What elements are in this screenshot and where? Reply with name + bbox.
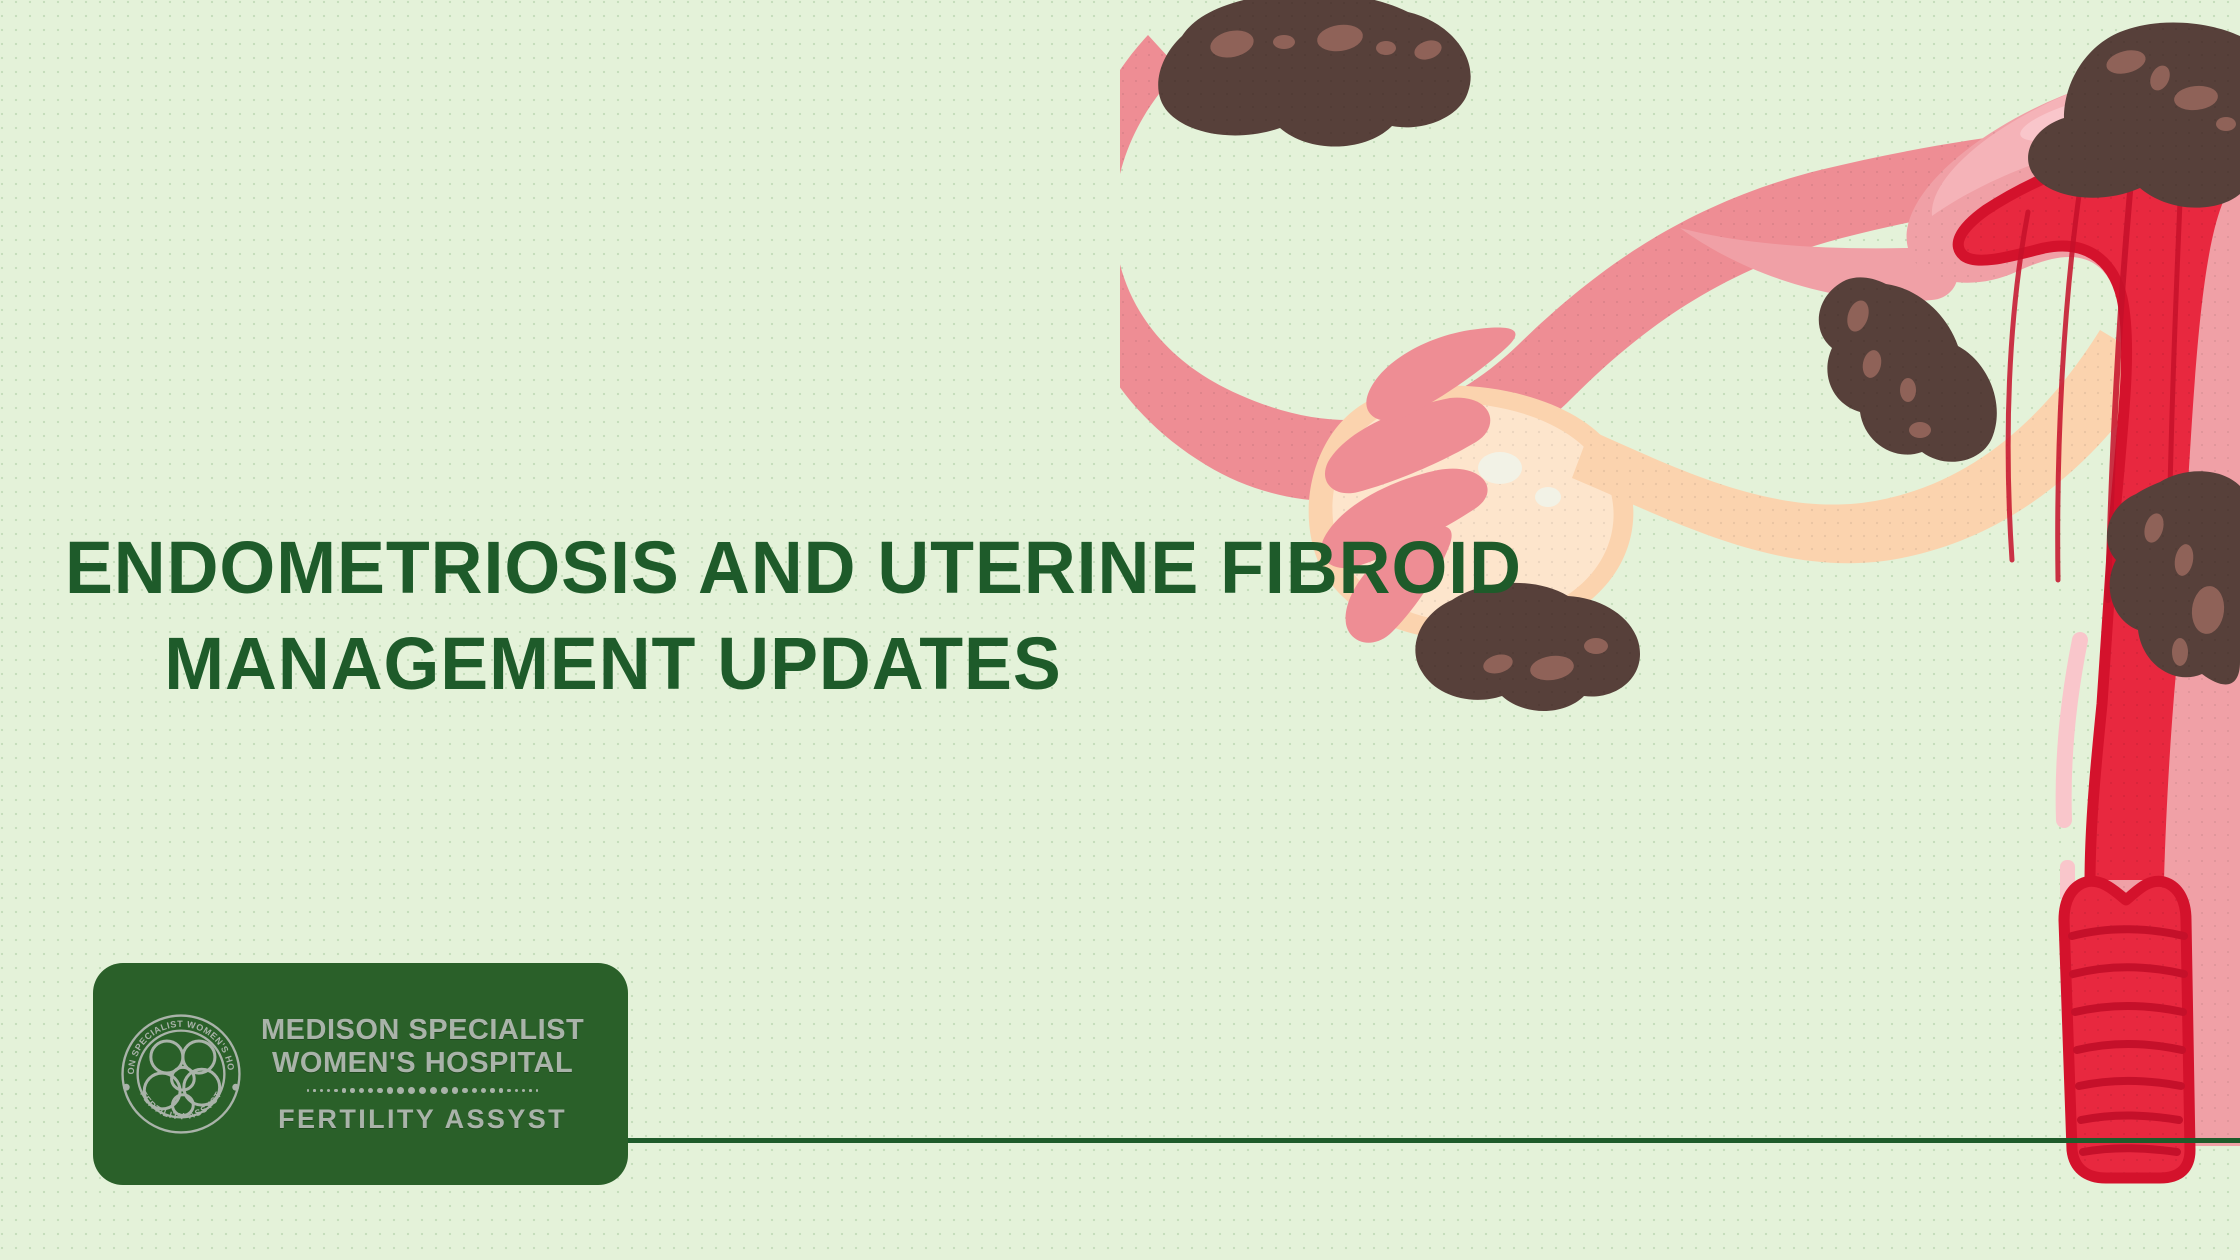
divider-dot (441, 1087, 448, 1094)
divider-dot (529, 1089, 532, 1092)
divider-dot (327, 1089, 330, 1092)
hospital-wordmark: MEDISON SPECIALIST WOMEN'S HOSPITAL FERT… (261, 1014, 584, 1135)
wordmark-dot-divider (307, 1084, 538, 1098)
divider-dot (307, 1089, 309, 1091)
wordmark-tagline: FERTILITY ASSYST (278, 1103, 567, 1135)
divider-dot (490, 1088, 495, 1093)
divider-dot (507, 1089, 511, 1093)
divider-dot (515, 1089, 518, 1092)
divider-dot (397, 1087, 404, 1094)
uterus-illustration (1120, 0, 2240, 1260)
page-title-line-2: MANAGEMENT UPDATES (65, 616, 1161, 712)
divider-dot (430, 1087, 437, 1094)
page-title: ENDOMETRIOSIS AND UTERINE FIBROID MANAGE… (48, 520, 1178, 712)
divider-dot (536, 1089, 538, 1091)
divider-dot (320, 1089, 323, 1092)
divider-dot (313, 1089, 316, 1092)
divider-dot (359, 1088, 364, 1093)
divider-dot (522, 1089, 525, 1092)
wordmark-line-2: WOMEN'S HOSPITAL (272, 1047, 573, 1080)
myometrium-highlight (2064, 640, 2080, 820)
divider-dot (387, 1087, 393, 1093)
ovary-follicle (1478, 452, 1522, 484)
footer-divider (628, 1138, 2240, 1143)
divider-dot (472, 1088, 477, 1093)
page-title-line-1: ENDOMETRIOSIS AND UTERINE FIBROID (65, 520, 1161, 616)
divider-dot (350, 1088, 355, 1093)
divider-dot (408, 1087, 415, 1094)
vaginal-canal (2064, 881, 2190, 1178)
wordmark-line-1: MEDISON SPECIALIST (261, 1014, 584, 1047)
endometriosis-lesion (1158, 0, 1470, 147)
divider-dot (462, 1088, 468, 1094)
divider-dot (334, 1089, 338, 1093)
divider-dot (419, 1087, 426, 1094)
banner-canvas: ENDOMETRIOSIS AND UTERINE FIBROID MANAGE… (0, 0, 2240, 1260)
divider-dot (481, 1088, 486, 1093)
ovary-follicle (1535, 487, 1561, 507)
divider-dot (499, 1088, 503, 1092)
divider-dot (368, 1088, 373, 1093)
divider-dot (377, 1088, 383, 1094)
endometriosis-lesion (1819, 277, 1997, 461)
divider-dot (342, 1088, 346, 1092)
hospital-emblem-icon: MEDISON SPECIALIST WOMEN'S HOSPITAL FERT… (115, 1008, 247, 1140)
hospital-logo-badge[interactable]: MEDISON SPECIALIST WOMEN'S HOSPITAL FERT… (93, 963, 628, 1185)
divider-dot (452, 1087, 458, 1093)
